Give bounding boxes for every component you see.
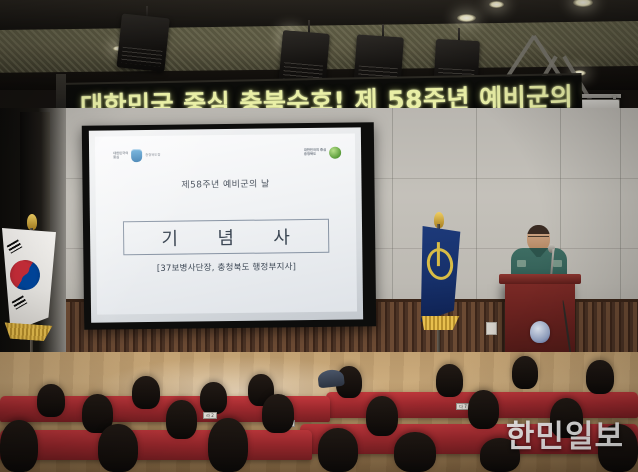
audience-head — [262, 394, 294, 433]
slide-headline-char-3: 사 — [273, 223, 291, 249]
audience-head — [166, 400, 197, 439]
slide-logo-right: 대한민국의 중심 충청북도 — [304, 147, 341, 159]
audience-head — [200, 382, 227, 414]
slide-headline-char-2: 념 — [217, 224, 235, 250]
seat-row-2b — [0, 430, 312, 460]
audience-head — [318, 428, 358, 472]
slide-logo-left: 대한민국의 중심 충청북도청 — [113, 149, 160, 163]
logo-left-text: 대한민국의 중심 — [113, 152, 128, 160]
wall-seam-2 — [476, 108, 477, 302]
wall-seam-4 — [620, 108, 621, 302]
spotlight-fins — [121, 47, 162, 67]
projection-screen-frame: 대한민국의 중심 충청북도청 대한민국의 중심 충청북도 제 — [82, 122, 376, 330]
trigram-bottom-left — [12, 295, 28, 309]
logo-right-text: 대한민국의 중심 충청북도 — [304, 149, 326, 157]
podium-emblem-icon — [530, 321, 550, 343]
audience-head — [37, 384, 65, 417]
ceiling-light-4 — [489, 1, 504, 8]
ceiling-light-3 — [457, 14, 476, 22]
slide-headline-char-1: 기 — [161, 225, 179, 251]
speaker-unit-patch — [553, 260, 562, 267]
korean-national-flag — [2, 228, 56, 332]
unit-emblem-icon — [424, 246, 456, 283]
speaker-name-patch — [517, 260, 526, 267]
slide-headline-box: 기 념 사 — [123, 219, 329, 256]
podium-top-surface — [499, 274, 581, 284]
projection-screen: 대한민국의 중심 충청북도청 대한민국의 중심 충청북도 제 — [89, 127, 363, 322]
audience-head — [132, 376, 160, 409]
wall-seam-1 — [392, 108, 393, 302]
audience-head — [208, 418, 248, 472]
green-circle-emblem-icon — [329, 147, 341, 159]
trigram-top-left — [7, 239, 23, 253]
audience-head — [512, 356, 538, 389]
taeguk-symbol — [5, 255, 46, 296]
publisher-watermark: 한민일보 — [506, 411, 624, 456]
presentation-slide: 대한민국의 중심 충청북도청 대한민국의 중심 충청북도 제 — [95, 133, 357, 314]
audience-head — [586, 360, 614, 394]
slide-caption: [37보병사단장, 충청북도 행정부지사] — [96, 259, 356, 274]
auditorium-photo: 대한민국 중심 충북수호! 제 58주년 예비군의 날 대한민국의 중심 — [0, 0, 638, 472]
audience-head — [436, 364, 463, 397]
audience-head — [98, 424, 138, 472]
stage-spotlight-1 — [116, 13, 169, 72]
wall-outlet — [486, 322, 497, 335]
audience-head — [468, 390, 499, 429]
slide-logo-bar: 대한민국의 중심 충청북도청 대한민국의 중심 충청북도 — [95, 146, 355, 167]
chungbuk-emblem-icon — [131, 149, 142, 162]
logo-left-name: 충청북도청 — [145, 153, 160, 157]
audience-head — [366, 396, 398, 436]
slide-title: 제58주년 예비군의 날 — [95, 175, 355, 191]
audience-head — [0, 420, 38, 472]
seat-label: 라 2 — [203, 412, 217, 419]
speaker-glasses — [528, 236, 549, 241]
audience-head — [394, 432, 436, 472]
